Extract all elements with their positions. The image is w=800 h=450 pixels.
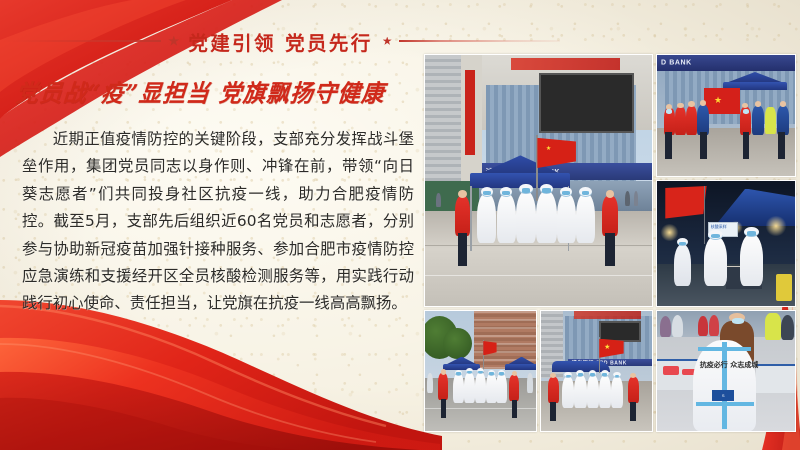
header-title: 党建引领 党员先行: [188, 27, 372, 56]
photo-back-suit-scene: 抗疫必行 众志成城 S: [657, 311, 795, 431]
d-bank-signage: D BANK: [661, 59, 692, 66]
header-bar: 党建引领 党员先行: [0, 26, 560, 56]
company-logo-patch: S: [712, 390, 734, 401]
photo-collage: 浦发银行 SPD BANK ★: [424, 54, 796, 432]
photo-main-group-spd-bank[interactable]: 浦发银行 SPD BANK ★: [424, 54, 653, 307]
five-point-star-icon: [168, 36, 179, 47]
photo-night-scene: 核酸采样: [657, 181, 795, 306]
photo-collage-bottom-row: 浦发银行 SPD BANK ★: [424, 310, 796, 432]
article-body-text: 近期正值疫情防控的关键阶段，支部充分发挥战斗堡垒作用，集团党员同志以身作则、冲锋…: [22, 126, 414, 318]
photo-community-street-team[interactable]: [424, 310, 537, 432]
calligraphy-subtitle: 党员战“疫”显担当 党旗飘扬守健康: [15, 75, 428, 109]
party-building-poster: 党建引领 党员先行 党员战“疫”显担当 党旗飘扬守健康 近期正值疫情防控的关键阶…: [0, 0, 800, 450]
five-point-star-icon-right: [383, 37, 392, 46]
photo-volunteers-scene: D BANK ★: [657, 55, 795, 176]
photo-linked-arms-scene: 浦发银行 SPD BANK ★: [541, 311, 652, 431]
photo-back-of-ppe-suit[interactable]: 抗疫必行 众志成城 S: [656, 310, 796, 432]
photo-linked-arms-flag[interactable]: 浦发银行 SPD BANK ★: [540, 310, 653, 432]
suit-handwriting: 抗疫必行 众志成城: [700, 361, 758, 369]
photo-main-scene: 浦发银行 SPD BANK ★: [425, 55, 652, 306]
photo-volunteers-party-flag[interactable]: D BANK ★: [656, 54, 796, 177]
photo-night-nucleic-acid-station[interactable]: 核酸采样: [656, 180, 796, 307]
header-rule-left: [0, 40, 161, 42]
photo-street-team-scene: [425, 311, 536, 431]
header-rule-right: [399, 40, 560, 41]
